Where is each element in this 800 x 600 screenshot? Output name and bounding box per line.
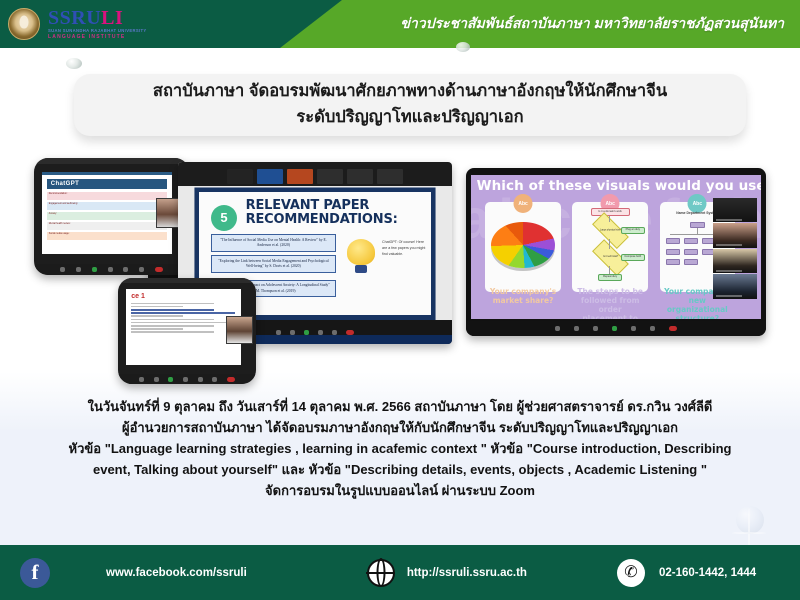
orb-decor: [456, 42, 470, 52]
ssruli-wordmark: SSRULI SUAN SUNANDHA RAJABHAT UNIVERSITY…: [48, 8, 168, 42]
exercise-document: ce 1: [126, 289, 241, 365]
pie-chart: [491, 222, 554, 269]
university-seal-icon: [8, 8, 40, 40]
flow-node-action: Compose both: [621, 254, 645, 261]
globe-icon[interactable]: [367, 559, 395, 587]
footer-bar: f www.facebook.com/ssruli http://ssruli.…: [0, 545, 800, 600]
participant-video-tile: [713, 223, 757, 248]
wordmark-li: LI: [101, 7, 123, 29]
wordmark-subtitle-institute: LANGUAGE INSTITUTE: [48, 35, 168, 40]
chatgpt-reply-text: ChatGPT: Of course! Here are a few paper…: [382, 239, 426, 257]
footer-facebook[interactable]: f www.facebook.com/ssruli: [20, 558, 247, 588]
chatgpt-row-label: Mental health review:: [49, 223, 71, 225]
lightbulb-icon: [347, 239, 375, 273]
chatgpt-slide: ChatGPT Recommendation: Engagement and w…: [42, 172, 172, 254]
flow-node-action: Plug an duty: [621, 227, 645, 234]
visuals-slide: Which of these visuals would you use to …: [471, 175, 761, 319]
page-title-line1: สถาบันภาษา จัดอบรมพัฒนาศักยภาพทางด้านภาษ…: [153, 79, 667, 105]
participant-gallery: [713, 198, 757, 299]
card-badge-icon: Abc: [514, 194, 533, 213]
slide-step-number: 5: [211, 205, 237, 231]
visual-caption-flowchart: The steps to be followed from order plac…: [572, 287, 648, 319]
phone-icon: ✆: [617, 559, 645, 587]
body-line-3: หัวข้อ "Language learning strategies , l…: [18, 438, 782, 459]
footer-website-label[interactable]: http://ssruli.ssru.ac.th: [407, 567, 527, 579]
footer-phone-label: 02-160-1442, 1444: [659, 567, 756, 579]
papers-slide-title: RELEVANT PAPER RECOMMENDATIONS:: [246, 199, 422, 228]
body-line-1: ในวันจันทร์ที่ 9 ตุลาคม ถึง วันเสาร์ที่ …: [18, 396, 782, 417]
footer-website[interactable]: http://ssruli.ssru.ac.th: [367, 559, 527, 587]
body-line-5: จัดการอบรมในรูปแบบออนไลน์ ผ่านระบบ Zoom: [18, 480, 782, 501]
zoom-gallery-strip: [178, 162, 452, 186]
chatgpt-slide-title: ChatGPT: [47, 179, 167, 189]
flow-node-start: Is it a domain's work: [591, 208, 630, 216]
participant-video-tile: [713, 198, 757, 223]
footer-facebook-label[interactable]: www.facebook.com/ssruli: [106, 567, 247, 579]
visuals-question: Which of these visuals would you use to …: [477, 178, 756, 194]
paper-citation: "The Influence of Social Media Use on Me…: [211, 234, 336, 252]
body-line-2: ผู้อำนวยการสถาบันภาษา ได้จัดอบรมภาษาอังก…: [18, 417, 782, 438]
visual-card-flowchart: Abc Is it a domain's work Large physical…: [572, 202, 648, 292]
announcement-body: ในวันจันทร์ที่ 9 ตุลาคม ถึง วันเสาร์ที่ …: [18, 396, 782, 501]
chatgpt-row-label: Recommendation:: [49, 193, 68, 195]
zoom-screenshot-visuals: Which of these visuals would you use to …: [466, 168, 766, 336]
orb-decor: [66, 58, 82, 69]
zoom-screenshot-chatgpt: ChatGPT Recommendation: Engagement and w…: [34, 158, 189, 275]
page-title: สถาบันภาษา จัดอบรมพัฒนาศักยภาพทางด้านภาษ…: [74, 74, 746, 136]
footer-phone[interactable]: ✆ 02-160-1442, 1444: [617, 559, 756, 587]
participant-video-tile: [713, 274, 757, 299]
visual-card-pie: Abc: [485, 202, 561, 292]
screenshot-collage: ChatGPT Recommendation: Engagement and w…: [0, 150, 800, 380]
chatgpt-row-label: Anxiety:: [49, 213, 57, 215]
flow-node-action: Repeat duty: [598, 274, 622, 281]
header-bar: SSRULI SUAN SUNANDHA RAJABHAT UNIVERSITY…: [0, 0, 800, 48]
banner-title: ข่าวประชาสัมพันธ์สถาบันภาษา มหาวิทยาลัยร…: [400, 13, 784, 35]
wordmark-subtitle-university: SUAN SUNANDHA RAJABHAT UNIVERSITY: [48, 29, 168, 33]
orb-decor: [736, 506, 764, 534]
participant-video-tile: [226, 316, 254, 344]
body-line-4: event, Talking about yourself" และ หัวข้…: [18, 459, 782, 480]
paper-citation: "Exploring the Link between Social Media…: [211, 255, 336, 273]
chatgpt-row-label: Social media usage:: [49, 233, 70, 235]
wordmark-ssru: SSRU: [48, 7, 101, 29]
exercise-doc-title: ce 1: [131, 293, 241, 300]
page-title-line2: ระดับปริญญาโทและปริญญาเอก: [296, 105, 523, 131]
visual-caption-pie: Your company's market share?: [485, 287, 561, 319]
facebook-icon[interactable]: f: [20, 558, 50, 588]
poster-root: SSRULI SUAN SUNANDHA RAJABHAT UNIVERSITY…: [0, 0, 800, 600]
chatgpt-row-label: Engagement and well-being:: [49, 203, 78, 205]
zoom-screenshot-exercise: ce 1: [118, 278, 256, 384]
participant-video-tile: [713, 249, 757, 274]
